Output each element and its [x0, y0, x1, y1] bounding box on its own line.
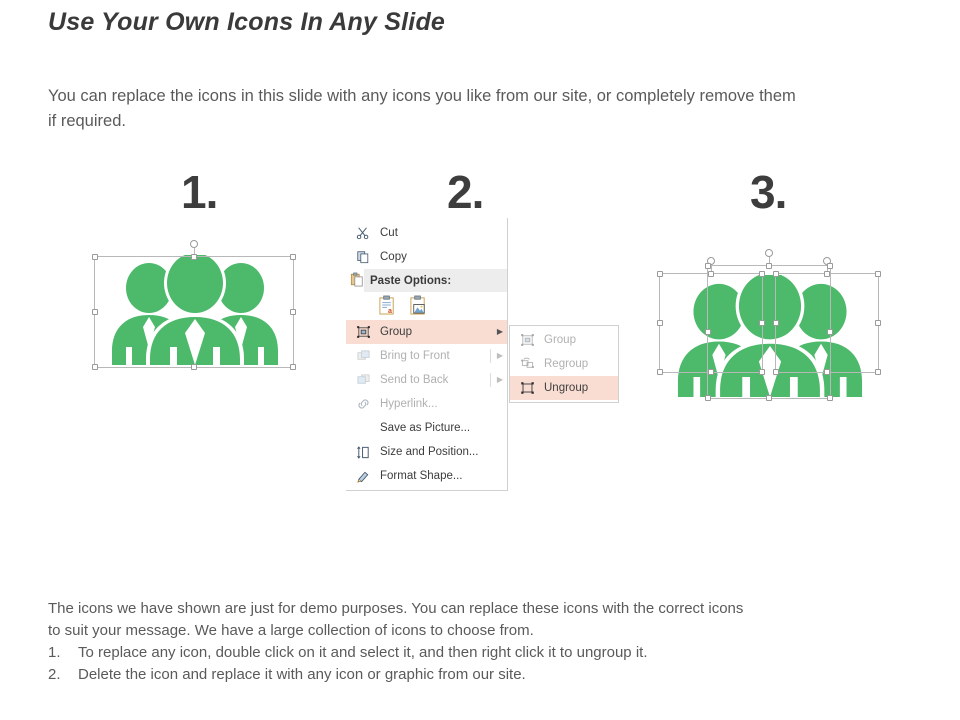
group-submenu[interactable]: Group Regroup Ungroup	[509, 325, 619, 403]
list-number: 2.	[48, 664, 78, 686]
paste-options-label: Paste Options:	[364, 269, 507, 292]
menu-item-label: Group	[376, 326, 493, 338]
divider	[490, 373, 491, 387]
submenu-item-group[interactable]: Group	[510, 328, 618, 352]
paste-options-icons[interactable]: a	[346, 292, 507, 320]
step-number-1: 1.	[181, 165, 217, 219]
menu-item-label: Copy	[376, 251, 507, 263]
menu-item-cut[interactable]: Cut	[346, 221, 507, 245]
group-icon	[350, 322, 376, 342]
menu-item-label: Regroup	[540, 358, 618, 370]
menu-item-label: Size and Position...	[376, 446, 507, 458]
step-number-3: 3.	[750, 165, 786, 219]
scissors-icon	[350, 223, 376, 243]
picture-paste-icon[interactable]	[409, 295, 428, 318]
size-position-icon	[350, 442, 376, 462]
menu-item-send-to-back[interactable]: Send to Back ▶	[346, 368, 507, 392]
send-to-back-icon	[350, 370, 376, 390]
intro-paragraph: You can replace the icons in this slide …	[48, 84, 808, 134]
list-text: Delete the icon and replace it with any …	[78, 664, 526, 686]
page-title: Use Your Own Icons In Any Slide	[48, 8, 445, 37]
menu-item-label: Ungroup	[540, 382, 618, 394]
menu-item-hyperlink[interactable]: Hyperlink...	[346, 392, 507, 416]
divider	[490, 349, 491, 363]
resize-handle-se[interactable]	[875, 369, 881, 375]
menu-item-size-and-position[interactable]: Size and Position...	[346, 440, 507, 464]
list-text: To replace any icon, double click on it …	[78, 642, 648, 664]
keep-source-formatting-icon[interactable]: a	[378, 295, 397, 318]
context-menu[interactable]: Cut Copy Paste Options: a Group ▶ Bring …	[346, 218, 508, 491]
rotate-stem	[194, 247, 195, 255]
menu-item-group[interactable]: Group ▶	[346, 320, 507, 344]
people-group-icon-1[interactable]	[105, 255, 285, 365]
people-icon-svg	[105, 255, 285, 365]
list-number: 1.	[48, 642, 78, 664]
rotate-stem	[827, 264, 828, 272]
resize-handle-w[interactable]	[92, 309, 98, 315]
menu-item-label: Send to Back	[376, 374, 490, 386]
hyperlink-icon	[350, 394, 376, 414]
submenu-item-ungroup[interactable]: Ungroup	[510, 376, 618, 400]
resize-handle-nw[interactable]	[657, 271, 663, 277]
rotate-stem	[711, 264, 712, 272]
paste-icon	[350, 272, 364, 290]
resize-handle-e[interactable]	[290, 309, 296, 315]
resize-handle-ne[interactable]	[290, 254, 296, 260]
chevron-right-icon: ▶	[493, 352, 507, 360]
bring-to-front-icon	[350, 346, 376, 366]
bottom-note-list-item-1: 1. To replace any icon, double click on …	[48, 642, 938, 664]
rotate-handle[interactable]	[765, 249, 773, 257]
step-number-2: 2.	[447, 165, 483, 219]
svg-text:a: a	[388, 307, 392, 315]
menu-item-save-as-picture[interactable]: Save as Picture...	[346, 416, 507, 440]
resize-handle-e[interactable]	[875, 320, 881, 326]
resize-handle-n[interactable]	[766, 263, 772, 269]
menu-item-label: Hyperlink...	[376, 398, 507, 410]
submenu-item-regroup[interactable]: Regroup	[510, 352, 618, 376]
bottom-note: The icons we have shown are just for dem…	[48, 598, 938, 686]
resize-handle-ne[interactable]	[827, 263, 833, 269]
chevron-right-icon: ▶	[493, 376, 507, 384]
copy-icon	[350, 247, 376, 267]
resize-handle-nw[interactable]	[705, 263, 711, 269]
menu-item-label: Save as Picture...	[376, 422, 507, 434]
rotate-handle[interactable]	[823, 257, 831, 265]
resize-handle-ne[interactable]	[875, 271, 881, 277]
format-shape-icon	[350, 466, 376, 486]
menu-item-copy[interactable]: Copy	[346, 245, 507, 269]
menu-item-paste-options: Paste Options:	[346, 269, 507, 292]
bottom-note-line-1: The icons we have shown are just for dem…	[48, 598, 938, 620]
ungroup-icon	[514, 378, 540, 398]
resize-handle-se[interactable]	[290, 364, 296, 370]
menu-item-label: Bring to Front	[376, 350, 490, 362]
rotate-handle[interactable]	[190, 240, 198, 248]
menu-item-label: Cut	[376, 227, 507, 239]
bottom-note-line-2: to suit your message. We have a large co…	[48, 620, 938, 642]
resize-handle-nw[interactable]	[92, 254, 98, 260]
menu-item-bring-to-front[interactable]: Bring to Front ▶	[346, 344, 507, 368]
chevron-right-icon: ▶	[493, 328, 507, 336]
no-icon	[350, 418, 376, 438]
regroup-icon	[514, 354, 540, 374]
menu-item-label: Format Shape...	[376, 470, 507, 482]
menu-item-format-shape[interactable]: Format Shape...	[346, 464, 507, 488]
bottom-note-list-item-2: 2. Delete the icon and replace it with a…	[48, 664, 938, 686]
menu-item-label: Group	[540, 334, 618, 346]
resize-handle-w[interactable]	[657, 320, 663, 326]
people-group-icon-3[interactable]	[670, 275, 870, 397]
resize-handle-sw[interactable]	[92, 364, 98, 370]
rotate-stem	[769, 256, 770, 264]
people-icon-svg	[670, 275, 870, 397]
resize-handle-sw[interactable]	[657, 369, 663, 375]
rotate-handle[interactable]	[707, 257, 715, 265]
group-icon	[514, 330, 540, 350]
